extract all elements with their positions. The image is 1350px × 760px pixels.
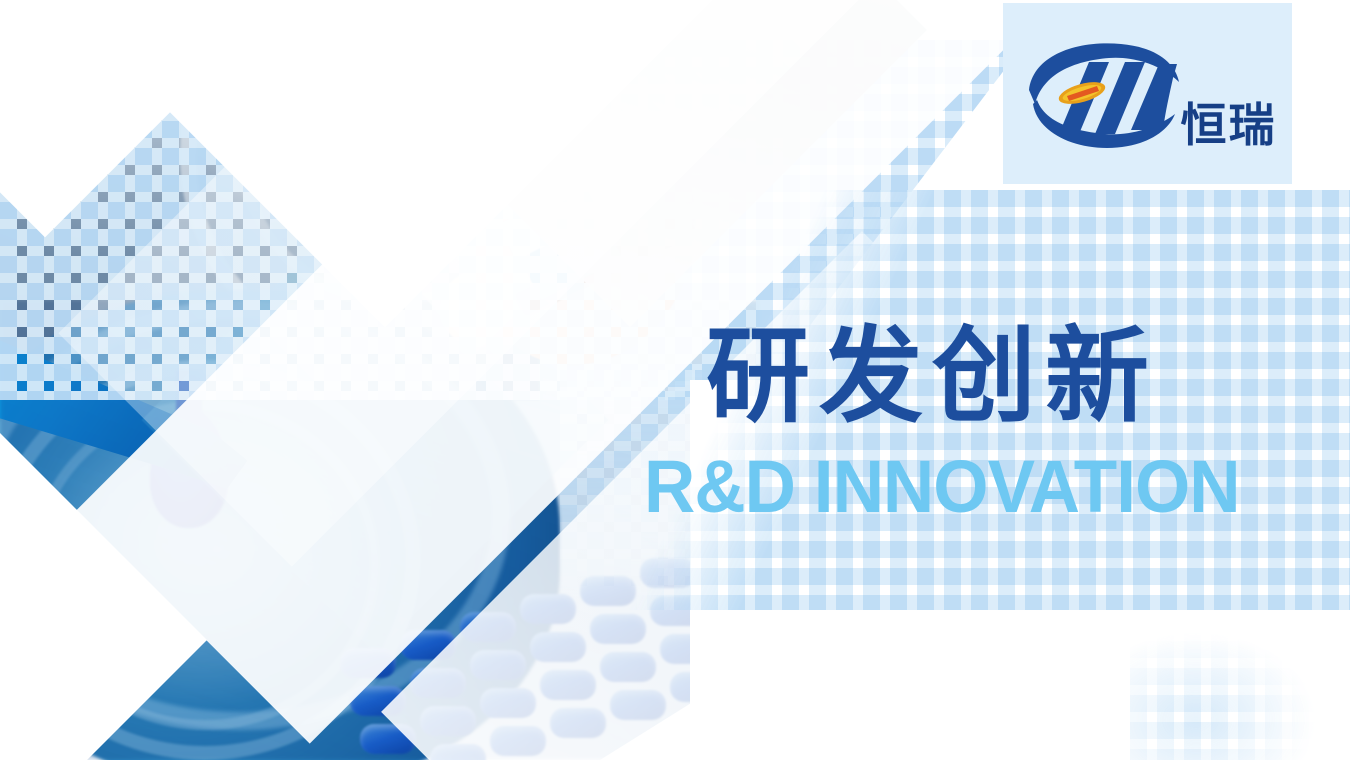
hengrui-logo-plaque[interactable]: 恒瑞	[1003, 3, 1292, 184]
page-subtitle-en: R&D INNOVATION	[644, 450, 1299, 524]
square-dot-grid-scatter	[1130, 560, 1350, 760]
logo-company-name: 恒瑞	[1181, 102, 1277, 148]
logo-inner: 恒瑞	[1023, 34, 1273, 154]
rd-innovation-banner: 恒瑞 研发创新 R&D INNOVATION	[0, 0, 1350, 760]
page-title-cn: 研发创新	[706, 322, 1326, 430]
headline-block: 研发创新 R&D INNOVATION	[706, 322, 1326, 524]
hengrui-mark-icon	[1023, 38, 1183, 150]
